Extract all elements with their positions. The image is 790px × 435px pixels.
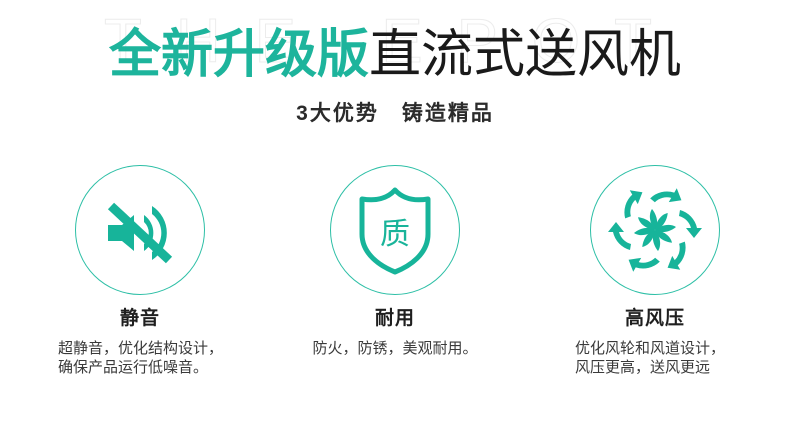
promo-banner: THE EPOT 全新升级版直流式送风机 3大优势 铸造精品 xyxy=(0,0,790,435)
shield-quality-icon: 质 xyxy=(352,184,438,276)
feature-description: 防火，防锈，美观耐用。 xyxy=(263,339,527,358)
feature-item-quiet: 静音 超静音，优化结构设计， 确保产品运行低噪音。 xyxy=(8,163,272,393)
feature-description: 超静音，优化结构设计， 确保产品运行低噪音。 xyxy=(58,339,223,377)
feature-icon-circle xyxy=(590,165,720,295)
feature-item-wind-pressure: 高风压 优化风轮和风道设计， 风压更高，送风更远 xyxy=(523,163,787,393)
feature-description: 优化风轮和风道设计， 风压更高，送风更远 xyxy=(575,339,725,377)
feature-icon-circle: 质 xyxy=(330,165,460,295)
page-title-highlight: 全新升级版 xyxy=(109,25,369,85)
shield-outline-icon xyxy=(352,184,438,276)
fan-airflow-icon xyxy=(607,182,703,278)
page-subtitle: 3大优势 铸造精品 xyxy=(0,97,790,127)
feature-title: 静音 xyxy=(8,303,272,330)
feature-title: 耐用 xyxy=(263,303,527,330)
page-title-rest: 直流式送风机 xyxy=(369,26,681,84)
feature-icon-circle xyxy=(75,165,205,295)
feature-item-durable: 质 耐用 防火，防锈，美观耐用。 xyxy=(263,163,527,393)
feature-list: 静音 超静音，优化结构设计， 确保产品运行低噪音。 质 耐用 防火，防锈，美观耐… xyxy=(0,163,790,393)
mute-speaker-icon xyxy=(94,184,186,276)
page-title: 全新升级版直流式送风机 xyxy=(0,29,790,81)
feature-title: 高风压 xyxy=(523,303,787,330)
